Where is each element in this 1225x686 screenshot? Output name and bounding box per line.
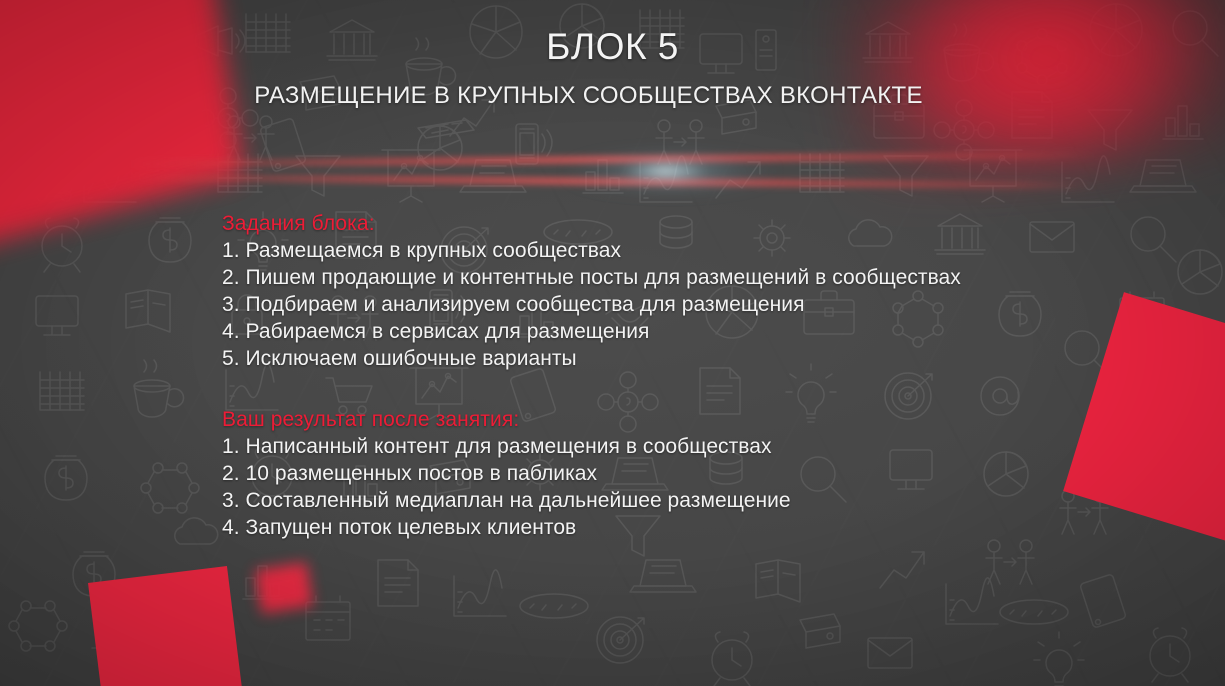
slide-subtitle: РАЗМЕЩЕНИЕ В КРУПНЫХ СООБЩЕСТВАХ ВКОНТАК… xyxy=(0,82,1225,110)
section-heading-results: Ваш результат после занятия: xyxy=(222,406,1122,433)
slide-content: БЛОК 5 РАЗМЕЩЕНИЕ В КРУПНЫХ СООБЩЕСТВАХ … xyxy=(0,0,1225,686)
list-item: 5. Исключаем ошибочные варианты xyxy=(222,345,1122,372)
task-list: 1. Размещаемся в крупных сообществах 2. … xyxy=(222,237,1122,372)
section-heading-tasks: Задания блока: xyxy=(222,210,1122,237)
result-list: 1. Написанный контент для размещения в с… xyxy=(222,433,1122,541)
slide: БЛОК 5 РАЗМЕЩЕНИЕ В КРУПНЫХ СООБЩЕСТВАХ … xyxy=(0,0,1225,686)
list-item: 3. Подбираем и анализируем сообщества дл… xyxy=(222,291,1122,318)
list-item: 2. Пишем продающие и контентные посты дл… xyxy=(222,264,1122,291)
list-item: 4. Запущен поток целевых клиентов xyxy=(222,514,1122,541)
section-tasks: Задания блока: 1. Размещаемся в крупных … xyxy=(222,210,1122,372)
section-results: Ваш результат после занятия: 1. Написанн… xyxy=(222,406,1122,541)
list-item: 2. 10 размещенных постов в пабликах xyxy=(222,460,1122,487)
slide-body: Задания блока: 1. Размещаемся в крупных … xyxy=(222,210,1122,541)
list-item: 3. Составленный медиаплан на дальнейшее … xyxy=(222,487,1122,514)
slide-title: БЛОК 5 xyxy=(0,28,1225,67)
list-item: 4. Рабираемся в сервисах для размещения xyxy=(222,318,1122,345)
list-item: 1. Написанный контент для размещения в с… xyxy=(222,433,1122,460)
list-item: 1. Размещаемся в крупных сообществах xyxy=(222,237,1122,264)
